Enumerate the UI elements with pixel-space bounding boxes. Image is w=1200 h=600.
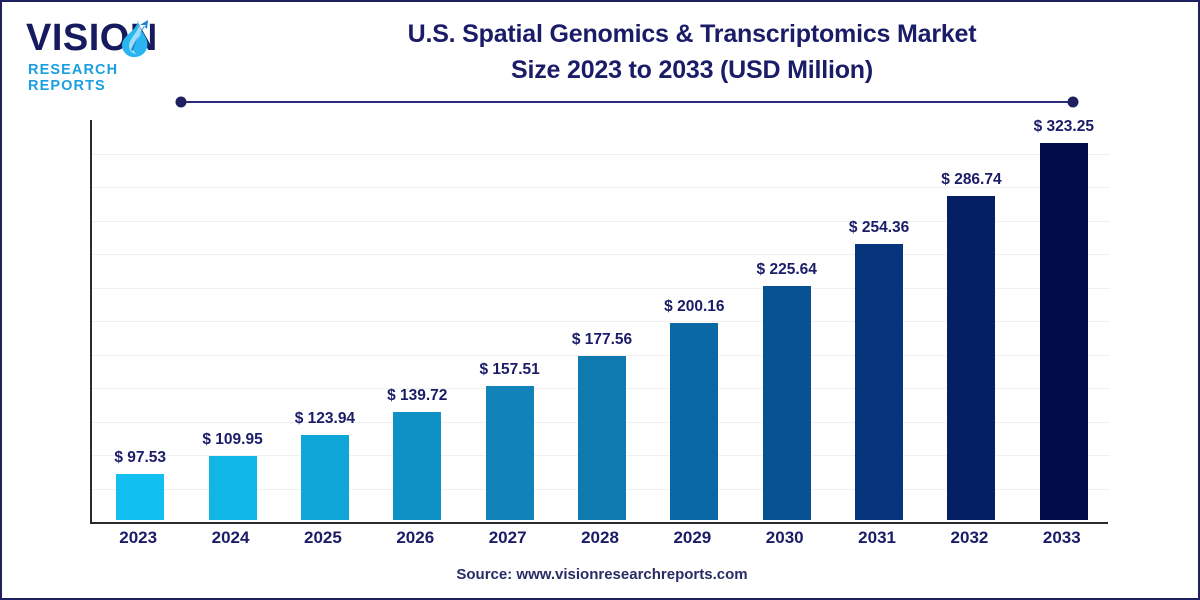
bar-value-label: $ 286.74 xyxy=(941,171,1001,189)
bar[interactable] xyxy=(763,286,811,520)
bar-value-label: $ 225.64 xyxy=(757,261,817,279)
bar-slot: $ 139.72 xyxy=(371,118,463,520)
header-divider-rule xyxy=(174,95,1080,107)
bar-value-label: $ 139.72 xyxy=(387,387,447,405)
bar-slot: $ 323.25 xyxy=(1018,118,1110,520)
bar-value-label: $ 157.51 xyxy=(479,361,539,379)
bar[interactable] xyxy=(947,196,995,520)
bar-chart: $ 97.53$ 109.95$ 123.94$ 139.72$ 157.51$… xyxy=(90,120,1108,524)
logo-tagline: RESEARCH REPORTS xyxy=(28,62,200,94)
bar[interactable] xyxy=(1040,143,1088,520)
bar-slot: $ 286.74 xyxy=(925,118,1017,520)
vision-research-reports-logo: VISION RESEARCH REPORTS xyxy=(20,16,200,88)
bar-value-label: $ 254.36 xyxy=(849,219,909,237)
chart-title-line-1: U.S. Spatial Genomics & Transcriptomics … xyxy=(212,16,1172,52)
x-tick-label: 2033 xyxy=(1016,528,1108,548)
bar-slot: $ 109.95 xyxy=(186,118,278,520)
x-tick-label: 2025 xyxy=(277,528,369,548)
x-tick-label: 2023 xyxy=(92,528,184,548)
bar-value-label: $ 109.95 xyxy=(202,431,262,449)
bar[interactable] xyxy=(209,456,257,520)
bar-slot: $ 177.56 xyxy=(556,118,648,520)
bar-value-label: $ 123.94 xyxy=(295,410,355,428)
x-tick-label: 2028 xyxy=(554,528,646,548)
bar[interactable] xyxy=(393,412,441,520)
plot-area: $ 97.53$ 109.95$ 123.94$ 139.72$ 157.51$… xyxy=(90,120,1108,524)
bar-slot: $ 225.64 xyxy=(741,118,833,520)
bar[interactable] xyxy=(486,386,534,520)
bar[interactable] xyxy=(670,323,718,520)
bar-value-label: $ 323.25 xyxy=(1034,118,1094,136)
bar-slot: $ 97.53 xyxy=(94,118,186,520)
logo-wordmark-row: VISION xyxy=(20,16,200,60)
bars-group: $ 97.53$ 109.95$ 123.94$ 139.72$ 157.51$… xyxy=(94,118,1110,520)
x-tick-label: 2030 xyxy=(739,528,831,548)
chart-page: VISION RESEARCH REPORTS U.S. Spatial Gen… xyxy=(0,0,1200,600)
bar-value-label: $ 97.53 xyxy=(114,449,166,467)
bar-value-label: $ 177.56 xyxy=(572,331,632,349)
page-header: VISION RESEARCH REPORTS U.S. Spatial Gen… xyxy=(2,2,1200,110)
bar-value-label: $ 200.16 xyxy=(664,298,724,316)
bar-slot: $ 254.36 xyxy=(833,118,925,520)
chart-title-line-2: Size 2023 to 2033 (USD Million) xyxy=(212,52,1172,88)
bar[interactable] xyxy=(116,474,164,520)
x-tick-label: 2032 xyxy=(923,528,1015,548)
source-caption: Source: www.visionresearchreports.com xyxy=(2,566,1200,583)
bar[interactable] xyxy=(578,356,626,520)
bar[interactable] xyxy=(855,244,903,520)
x-tick-label: 2029 xyxy=(646,528,738,548)
droplet-arrow-icon xyxy=(118,17,150,59)
x-tick-label: 2026 xyxy=(369,528,461,548)
x-axis-tick-labels: 2023202420252026202720282029203020312032… xyxy=(90,528,1108,558)
x-tick-label: 2027 xyxy=(461,528,553,548)
bar[interactable] xyxy=(301,435,349,520)
x-tick-label: 2031 xyxy=(831,528,923,548)
chart-title: U.S. Spatial Genomics & Transcriptomics … xyxy=(212,16,1172,88)
bar-slot: $ 157.51 xyxy=(463,118,555,520)
x-tick-label: 2024 xyxy=(184,528,276,548)
bar-slot: $ 200.16 xyxy=(648,118,740,520)
bar-slot: $ 123.94 xyxy=(279,118,371,520)
